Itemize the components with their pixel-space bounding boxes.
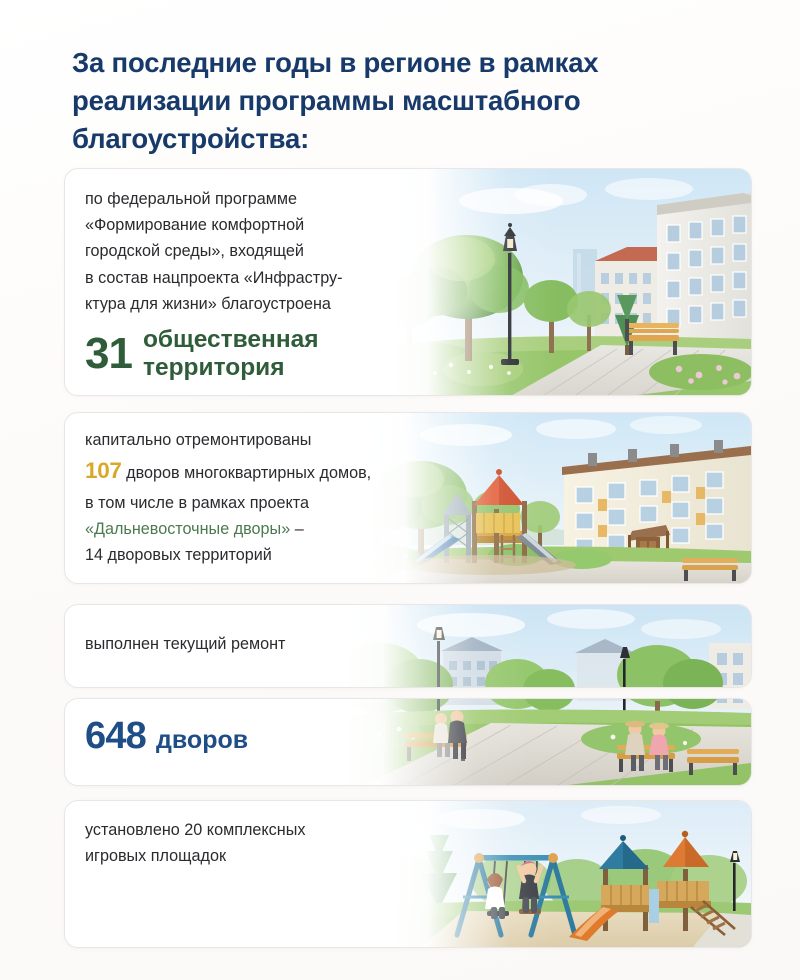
card1-line-1: по федеральной программе: [85, 186, 455, 212]
card2-line-2: 107 дворов многоквартирных домов,: [85, 453, 485, 489]
current-repairs-text: выполнен текущий ремонт: [85, 631, 435, 657]
stat-label-line2: территория: [143, 354, 285, 381]
current-repairs-card: выполнен текущий ремонт: [64, 604, 752, 688]
card2-line-5: 14 дворовых территорий: [85, 542, 485, 568]
card3-line-1: выполнен текущий ремонт: [85, 631, 435, 657]
stat-label-courtyards: дворов: [156, 720, 248, 761]
card1-statistic: 31 общественная территория: [85, 326, 455, 381]
card1-line-2: «Формирование комфортной: [85, 212, 455, 238]
stat-number-31: 31: [85, 332, 132, 376]
card5-line-2: игровых площадок: [85, 843, 465, 869]
card1-line-3: городской среды», входящей: [85, 238, 455, 264]
courtyards-count-text: 648 дворов: [85, 717, 435, 761]
courtyards-repaired-text: капитально отремонтированы 107 дворов мн…: [85, 427, 485, 568]
card2-line-4: «Дальневосточные дворы» –: [85, 516, 485, 542]
stat-number-648: 648: [85, 717, 146, 755]
card2-line-2-rest: дворов многоквартирных домов,: [126, 464, 371, 482]
playgrounds-installed-text: установлено 20 комплексных игровых площа…: [85, 817, 465, 869]
card2-line-1: капитально отремонтированы: [85, 427, 485, 453]
stat-label-public-territory: общественная территория: [143, 326, 319, 381]
courtyards-count-card: 648 дворов: [64, 698, 752, 786]
project-name-dv-courtyards: «Дальневосточные дворы»: [85, 520, 290, 538]
courtyards-repaired-card: капитально отремонтированы 107 дворов мн…: [64, 412, 752, 584]
card1-line-5: ктура для жизни» благоустроена: [85, 291, 455, 317]
playgrounds-installed-card: установлено 20 комплексных игровых площа…: [64, 800, 752, 948]
federal-program-card: по федеральной программе «Формирование к…: [64, 168, 752, 396]
stat-number-107: 107: [85, 458, 122, 483]
stat-label-line1: общественная: [143, 326, 319, 353]
federal-program-text: по федеральной программе «Формирование к…: [85, 186, 455, 381]
page-title: За последние годы в регионе в рамках реа…: [72, 44, 712, 158]
card2-line-3: в том числе в рамках проекта: [85, 490, 485, 516]
card5-line-1: установлено 20 комплексных: [85, 817, 465, 843]
card1-line-4: в состав нацпроекта «Инфрастру-: [85, 265, 455, 291]
card4-statistic: 648 дворов: [85, 717, 435, 761]
card2-dash: –: [290, 520, 304, 538]
infographic-page: За последние годы в регионе в рамках реа…: [0, 0, 800, 980]
